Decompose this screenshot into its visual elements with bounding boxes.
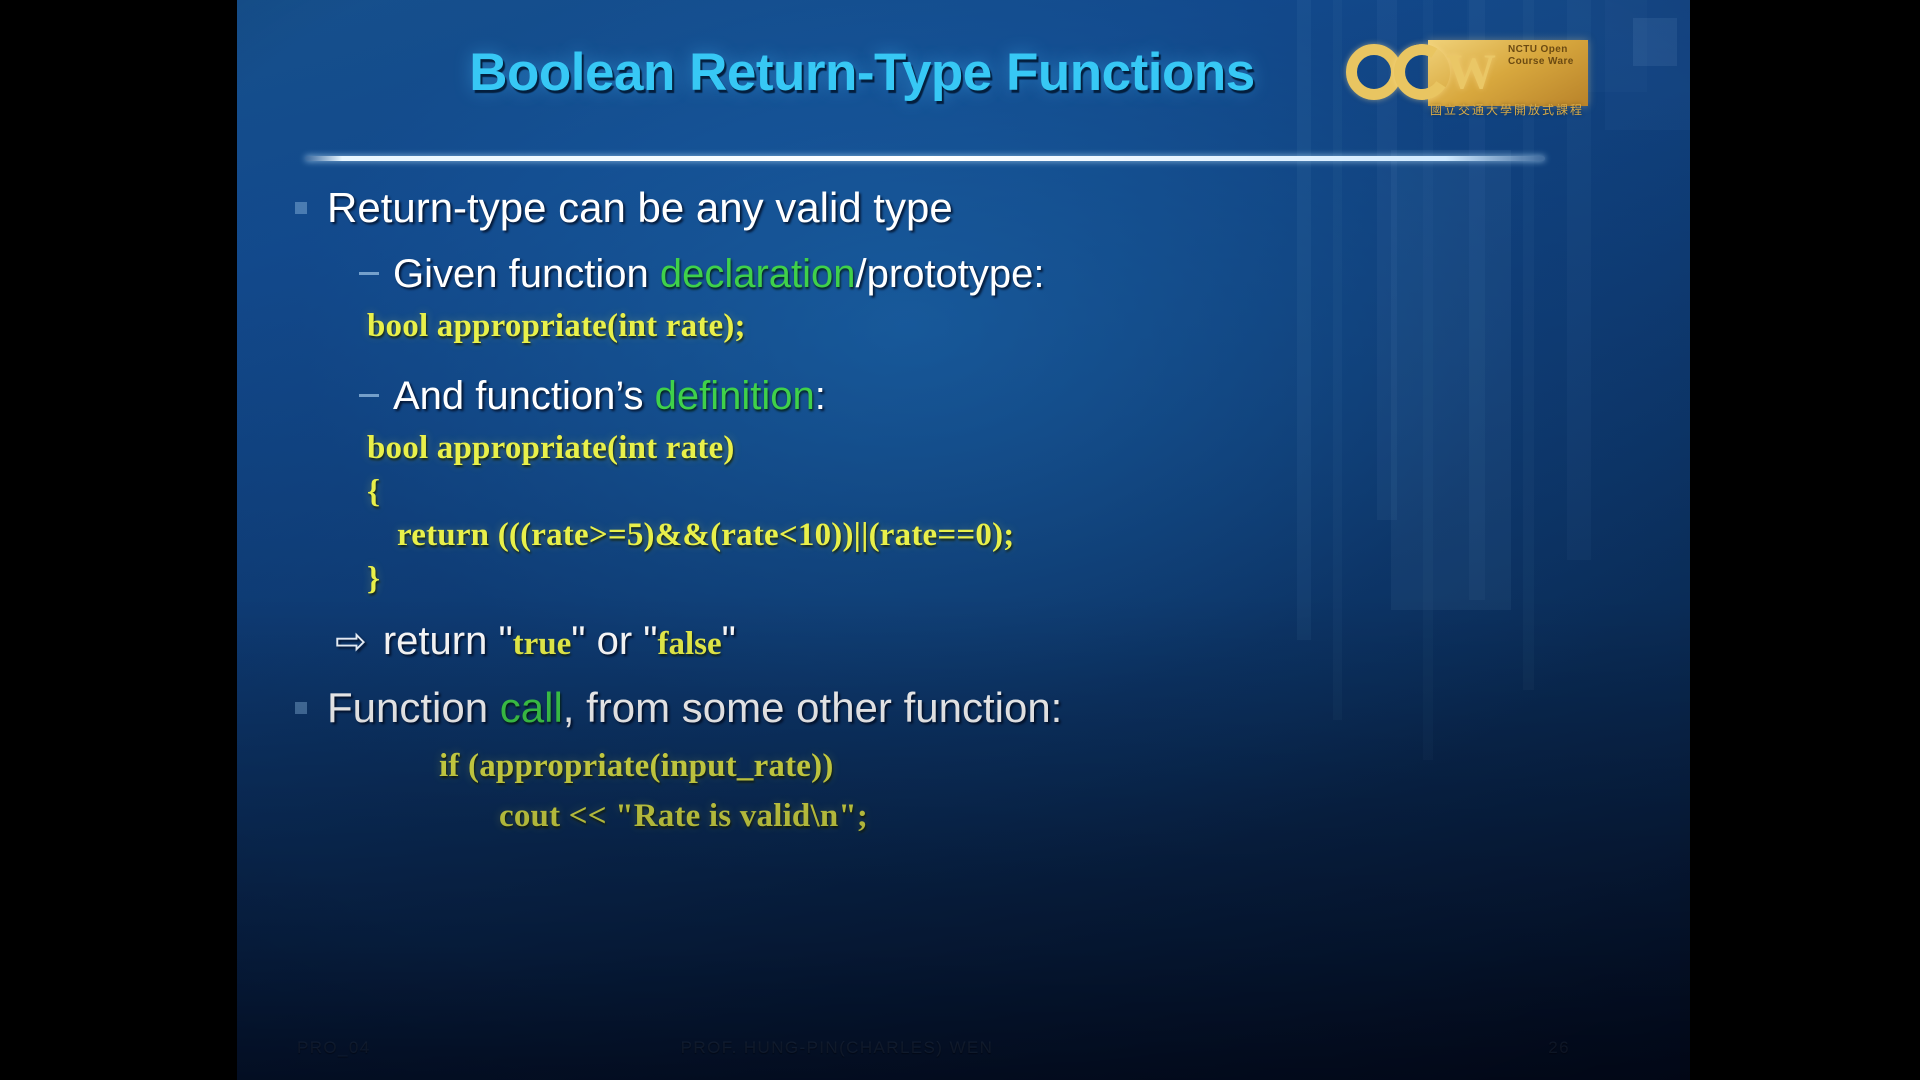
right-arrow-icon: ⇨: [335, 619, 367, 664]
sub-bullet-given-function: Given function declaration/prototype:: [359, 253, 1690, 295]
presentation-slide: Boolean Return-Type Functions W NCTU Ope…: [237, 0, 1690, 1080]
code-line-if-statement: if (appropriate(input_rate)): [439, 749, 1690, 785]
sub-bullet-suffix: /prototype:: [856, 252, 1045, 296]
highlight-definition: definition: [655, 374, 815, 418]
code-line-cout-statement: cout << "Rate is valid\n";: [499, 799, 1690, 835]
ocw-logo-chinese: 國立交通大學開放式課程: [1430, 101, 1584, 118]
arrow-text-pre: return ": [383, 619, 513, 663]
footer-instructor: PROF. HUNG-PIN(CHARLES) WEN: [237, 1038, 1437, 1058]
title-divider: [305, 156, 1545, 161]
slide-body: Return-type can be any valid type Given …: [237, 186, 1690, 834]
code-line-open-brace: {: [367, 475, 1690, 511]
code-line-signature: bool appropriate(int rate): [367, 431, 1690, 467]
bullet-item-function-call: Function call, from some other function:: [295, 686, 1690, 731]
ocw-letter-w-icon: W: [1446, 46, 1492, 96]
dash-bullet-icon: [359, 272, 379, 275]
highlight-declaration: declaration: [660, 252, 856, 296]
arrow-text-post: ": [722, 619, 736, 663]
bullet-prefix: Function: [327, 684, 500, 731]
arrow-text-mid: " or ": [571, 619, 657, 663]
square-bullet-icon: [295, 702, 307, 714]
code-line-return-expression: return (((rate>=5)&&(rate<10))||(rate==0…: [397, 518, 1690, 554]
ocw-logo: W NCTU Open Course Ware 國立交通大學開放式課程: [1338, 32, 1588, 120]
sub-bullet-prefix: Given function: [393, 252, 660, 296]
bullet-suffix: , from some other function:: [563, 684, 1063, 731]
highlight-call: call: [500, 684, 563, 731]
code-line-close-brace: }: [367, 562, 1690, 598]
code-line-prototype: bool appropriate(int rate);: [367, 309, 1690, 345]
square-bullet-icon: [295, 202, 307, 214]
keyword-true: true: [513, 626, 572, 662]
sub-bullet-prefix: And function’s: [393, 374, 655, 418]
footer-page-number: 26: [1548, 1038, 1570, 1058]
arrow-item-return-true-false: ⇨return "true" or "false": [335, 619, 1690, 664]
ocw-logo-english: NCTU Open Course Ware: [1508, 44, 1580, 68]
keyword-false: false: [658, 626, 722, 662]
sub-bullet-suffix: :: [815, 374, 826, 418]
page-title: Boolean Return-Type Functions: [237, 42, 1487, 103]
bullet-text: Return-type can be any valid type: [327, 184, 953, 231]
dash-bullet-icon: [359, 394, 379, 397]
sub-bullet-and-definition: And function’s definition:: [359, 375, 1690, 417]
bullet-item-return-type: Return-type can be any valid type: [295, 186, 1690, 231]
letterbox-frame: Boolean Return-Type Functions W NCTU Ope…: [0, 0, 1920, 1080]
